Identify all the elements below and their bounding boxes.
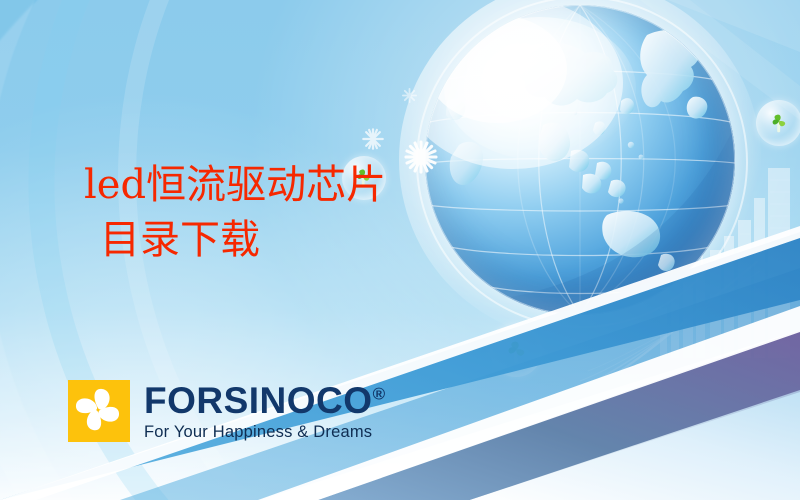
headline-block: led恒流驱动芯片 目录下载 (84, 158, 504, 268)
brand-name: FORSINOCO® (144, 382, 386, 419)
headline-line-2: 目录下载 (100, 213, 504, 268)
registered-mark: ® (373, 384, 386, 403)
pinwheel-flower-icon (68, 380, 130, 442)
promo-banner: led恒流驱动芯片 目录下载 FORSINOCO® For Your Happi… (0, 0, 800, 500)
headline-line-1: led恒流驱动芯片 (84, 158, 504, 213)
brand-text: FORSINOCO® For Your Happiness & Dreams (144, 382, 386, 441)
brand-tagline: For Your Happiness & Dreams (144, 424, 386, 441)
brand-name-text: FORSINOCO (144, 380, 373, 421)
brand-logo[interactable]: FORSINOCO® For Your Happiness & Dreams (68, 380, 386, 442)
